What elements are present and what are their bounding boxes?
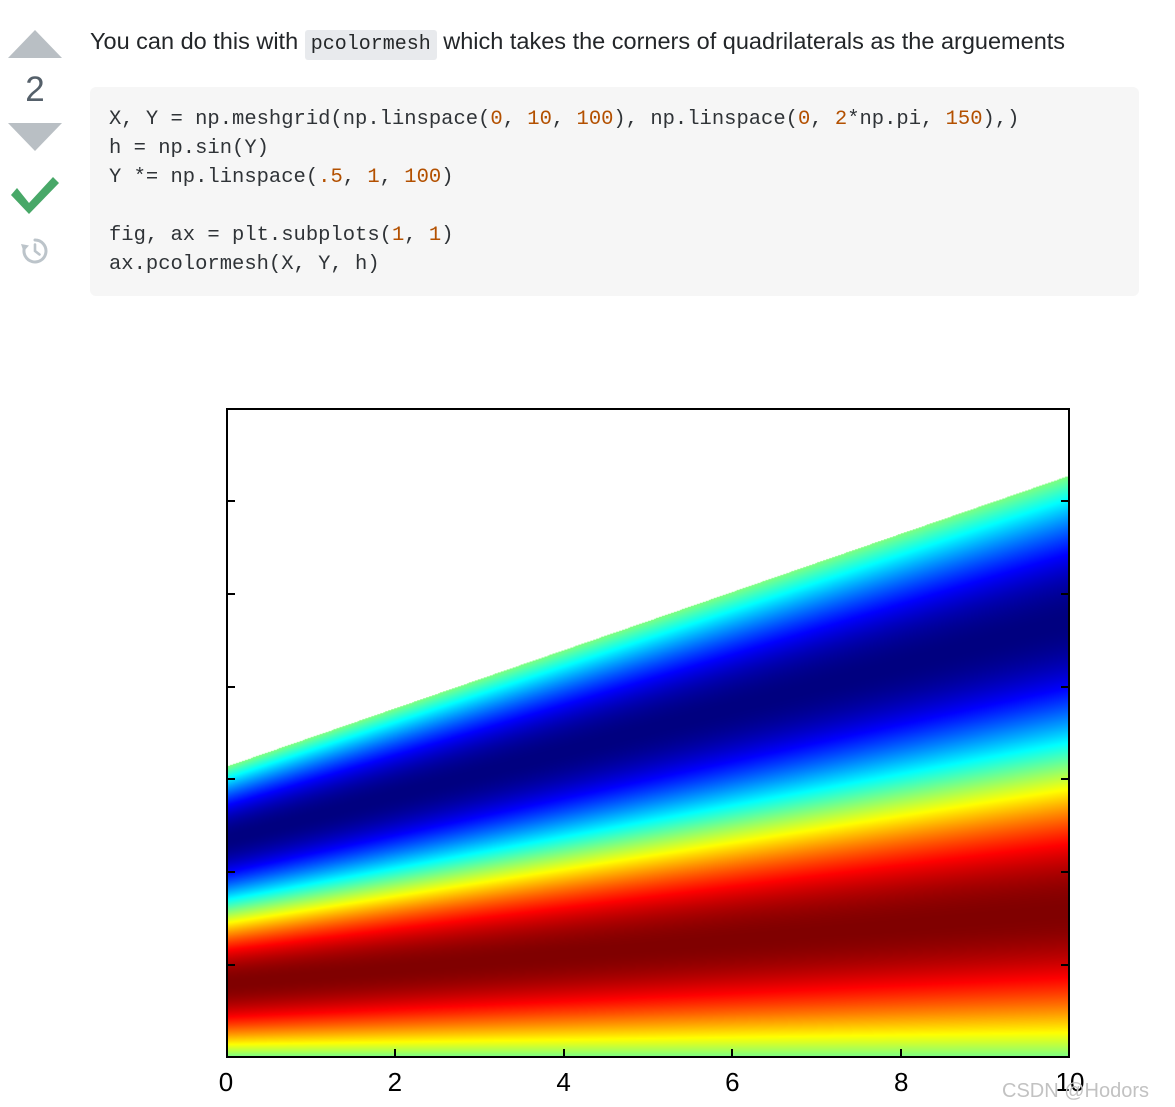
vote-column: 2 <box>0 0 70 340</box>
y-tick-mark <box>1061 500 1070 502</box>
x-tick-label: 8 <box>894 1067 908 1098</box>
y-tick-mark <box>226 593 235 595</box>
upvote-icon[interactable] <box>8 30 62 58</box>
csdn-watermark: CSDN @Hodors <box>1002 1080 1149 1103</box>
y-tick-mark <box>1061 593 1070 595</box>
y-tick-mark <box>226 778 235 780</box>
y-tick-mark <box>226 500 235 502</box>
x-tick-mark <box>394 1049 396 1058</box>
code-block[interactable]: X, Y = np.meshgrid(np.linspace(0, 10, 10… <box>90 87 1139 296</box>
y-tick-mark <box>1061 778 1070 780</box>
pcolormesh-surface <box>228 410 1068 1056</box>
downvote-icon[interactable] <box>8 123 62 151</box>
x-tick-label: 4 <box>556 1067 570 1098</box>
code-line: Y *= np.linspace(.5, 1, 100) <box>109 166 454 189</box>
answer-text-before: You can do this with <box>90 28 298 54</box>
answer-paragraph: You can do this with pcolormesh which ta… <box>90 24 1155 62</box>
x-tick-mark <box>900 1049 902 1058</box>
y-tick-mark <box>1061 964 1070 966</box>
y-tick-mark <box>226 871 235 873</box>
x-tick-label: 0 <box>219 1067 233 1098</box>
x-tick-label: 2 <box>388 1067 402 1098</box>
x-tick-mark <box>731 1049 733 1058</box>
vote-score: 2 <box>25 72 44 107</box>
code-line: X, Y = np.meshgrid(np.linspace(0, 10, 10… <box>109 108 1019 131</box>
history-clock-icon[interactable] <box>19 235 51 267</box>
plot-axes-frame <box>226 408 1070 1058</box>
y-tick-mark <box>226 686 235 688</box>
code-line: h = np.sin(Y) <box>109 137 269 160</box>
code-content: X, Y = np.meshgrid(np.linspace(0, 10, 10… <box>109 105 1139 279</box>
x-tick-mark <box>563 1049 565 1058</box>
code-line <box>109 195 121 218</box>
y-tick-mark <box>226 964 235 966</box>
code-line: fig, ax = plt.subplots(1, 1) <box>109 224 454 247</box>
y-tick-mark <box>1061 686 1070 688</box>
x-tick-label: 6 <box>725 1067 739 1098</box>
inline-code-pcolormesh: pcolormesh <box>305 30 437 60</box>
code-line: ax.pcolormesh(X, Y, h) <box>109 253 380 276</box>
y-tick-mark <box>1061 871 1070 873</box>
accepted-answer-check-icon[interactable] <box>8 173 62 217</box>
answer-text-after: which takes the corners of quadrilateral… <box>443 28 1065 54</box>
